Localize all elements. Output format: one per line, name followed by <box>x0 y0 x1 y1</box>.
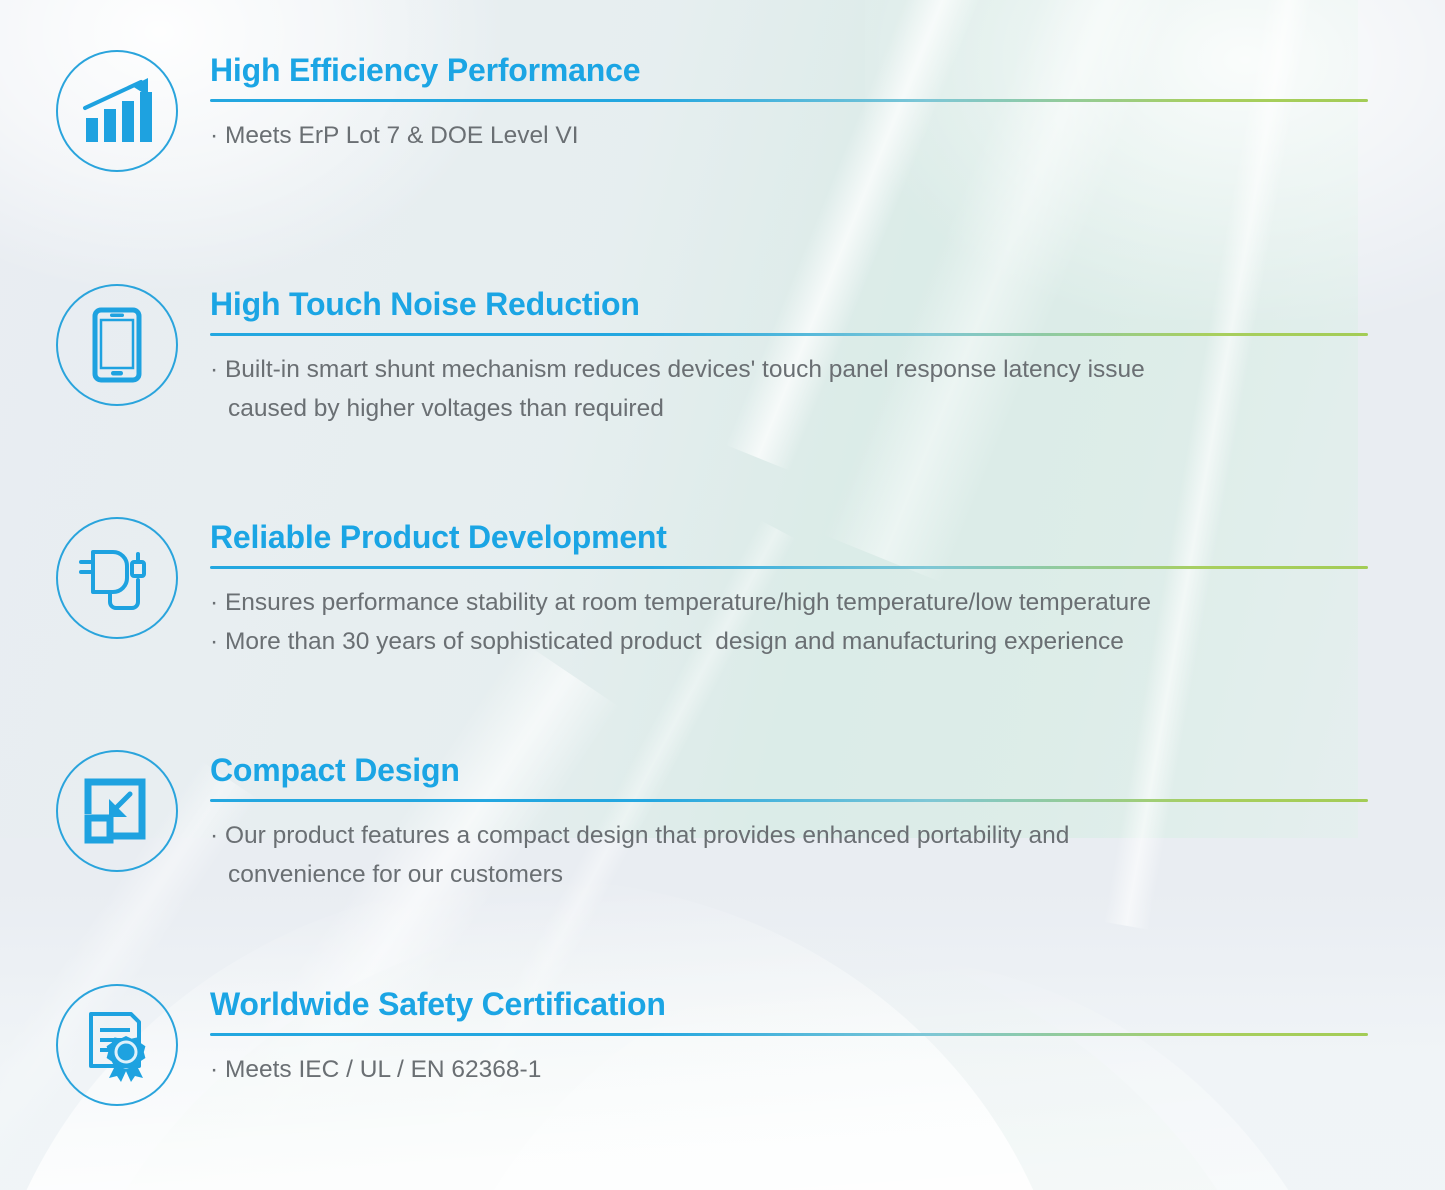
feature-title: High Efficiency Performance <box>210 50 1370 90</box>
feature-title: Compact Design <box>210 750 1370 790</box>
feature-divider <box>210 1033 1368 1036</box>
smartphone-icon <box>56 284 178 406</box>
bar-chart-growth-icon <box>56 50 178 172</box>
feature-line: · Meets IEC / UL / EN 62368-1 <box>210 1050 1370 1089</box>
feature-lines: · Built-in smart shunt mechanism reduces… <box>210 350 1370 428</box>
feature-lines: · Ensures performance stability at room … <box>210 583 1370 661</box>
feature-lines: · Our product features a compact design … <box>210 816 1370 894</box>
feature-title: Worldwide Safety Certification <box>210 984 1370 1024</box>
feature-divider <box>210 566 1368 569</box>
feature-lines: · Meets IEC / UL / EN 62368-1 <box>210 1050 1370 1089</box>
feature-line: · Ensures performance stability at room … <box>210 583 1370 622</box>
feature-list-page: High Efficiency Performance · Meets ErP … <box>0 0 1445 1190</box>
feature-body: High Efficiency Performance · Meets ErP … <box>210 50 1370 155</box>
feature-body: Worldwide Safety Certification · Meets I… <box>210 984 1370 1089</box>
feature-body: Compact Design · Our product features a … <box>210 750 1370 894</box>
certificate-award-icon <box>56 984 178 1106</box>
feature-line: · More than 30 years of sophisticated pr… <box>210 622 1370 661</box>
feature-list: High Efficiency Performance · Meets ErP … <box>0 0 1445 1190</box>
feature-divider <box>210 333 1368 336</box>
feature-line: caused by higher voltages than required <box>210 389 1370 428</box>
feature-line: · Built-in smart shunt mechanism reduces… <box>210 350 1370 389</box>
feature-body: Reliable Product Development · Ensures p… <box>210 517 1370 661</box>
feature-divider <box>210 99 1368 102</box>
feature-line: · Our product features a compact design … <box>210 816 1370 855</box>
feature-line: convenience for our customers <box>210 855 1370 894</box>
power-adapter-icon <box>56 517 178 639</box>
feature-divider <box>210 799 1368 802</box>
feature-title: Reliable Product Development <box>210 517 1370 557</box>
feature-lines: · Meets ErP Lot 7 & DOE Level VI <box>210 116 1370 155</box>
feature-line: · Meets ErP Lot 7 & DOE Level VI <box>210 116 1370 155</box>
feature-body: High Touch Noise Reduction · Built-in sm… <box>210 284 1370 428</box>
feature-title: High Touch Noise Reduction <box>210 284 1370 324</box>
compact-resize-icon <box>56 750 178 872</box>
